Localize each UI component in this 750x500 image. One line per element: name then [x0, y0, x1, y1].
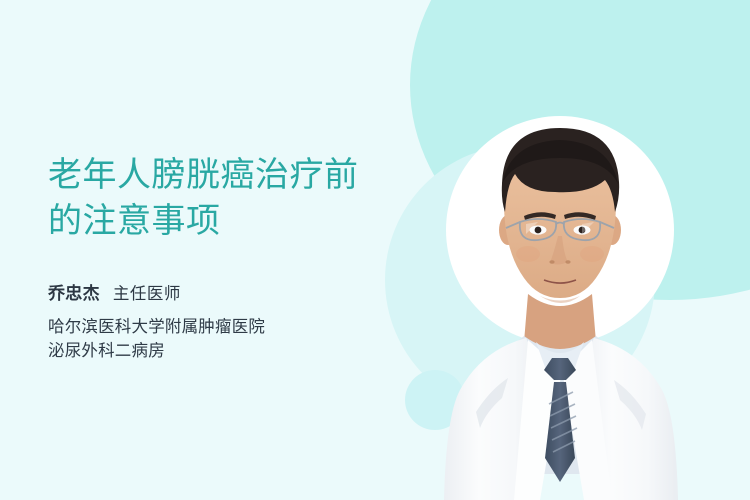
doctor-name: 乔忠杰 [48, 284, 100, 303]
doctor-rank: 主任医师 [113, 285, 181, 303]
doctor-department: 泌尿外科二病房 [48, 339, 398, 363]
doctor-byline: 乔忠杰主任医师 [48, 282, 398, 306]
text-block: 老年人膀胱癌治疗前的注意事项 乔忠杰主任医师 哈尔滨医科大学附属肿瘤医院 泌尿外… [48, 152, 398, 363]
doctor-info-card: 老年人膀胱癌治疗前的注意事项 乔忠杰主任医师 哈尔滨医科大学附属肿瘤医院 泌尿外… [0, 0, 750, 500]
doctor-affiliation: 哈尔滨医科大学附属肿瘤医院 泌尿外科二病房 [48, 315, 398, 363]
card-title: 老年人膀胱癌治疗前的注意事项 [48, 152, 383, 244]
doctor-hospital: 哈尔滨医科大学附属肿瘤医院 [48, 315, 398, 339]
doctor-portrait [432, 112, 750, 500]
